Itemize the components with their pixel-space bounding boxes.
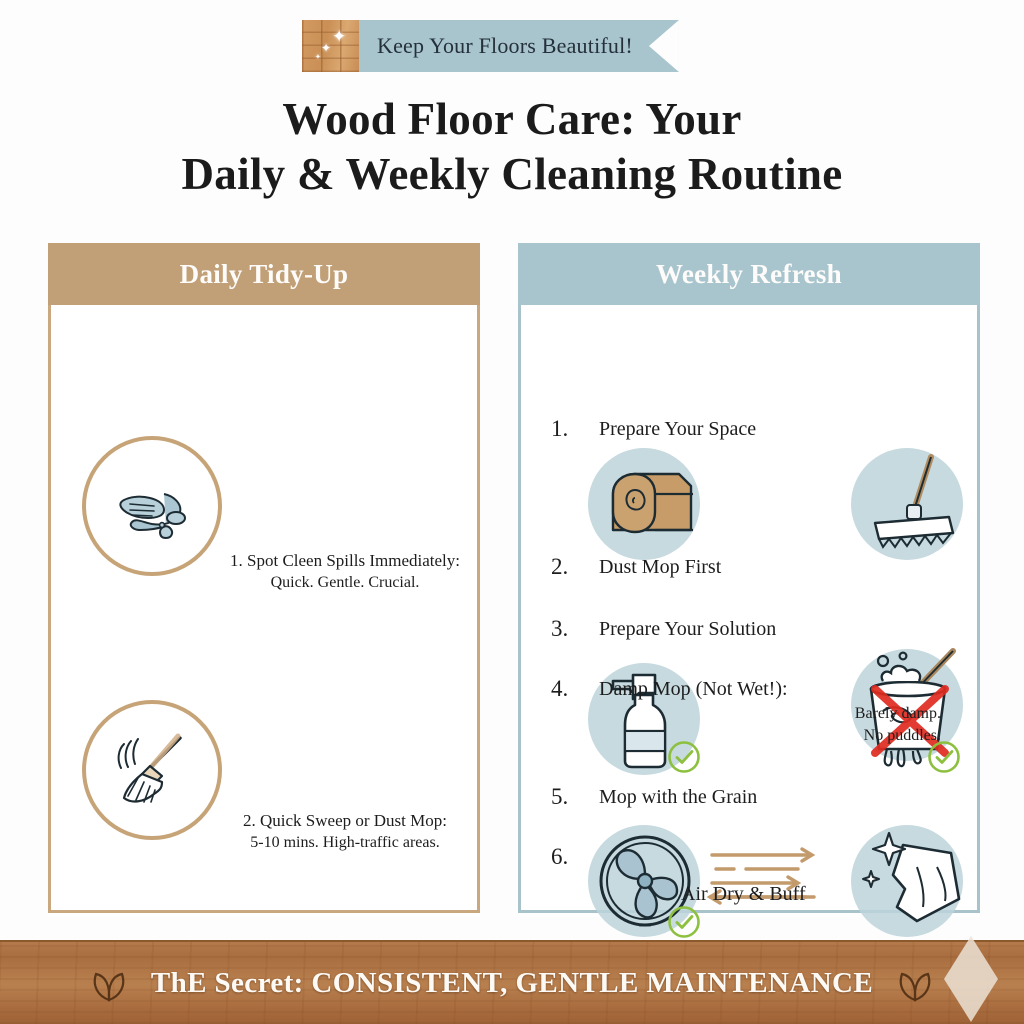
weekly-step-3-number: 3. (551, 615, 599, 643)
title-line-2: Daily & Weekly Cleaning Routine (0, 147, 1024, 202)
weekly-card-title: Weekly Refresh (656, 259, 842, 290)
ribbon-band: Keep Your Floors Beautiful! (359, 20, 679, 72)
ribbon-notch (649, 20, 679, 72)
daily-card-header: Daily Tidy-Up (48, 243, 480, 305)
damp-mop-note: Barely damp. No puddles. (751, 703, 941, 747)
check-badge-icon (667, 905, 701, 939)
daily-item-1-headline: 1. Spot Cleen Spills Immediately: (214, 550, 476, 572)
weekly-step-5-label: Mop with the Grain (599, 783, 757, 811)
diamond-sparkle-icon (944, 936, 998, 1022)
daily-item-1-subline: Quick. Gentle. Crucial. (214, 572, 476, 594)
weekly-step-3: 3. Prepare Your Solution (551, 615, 776, 643)
sparkle-icon: ✦ (321, 42, 331, 54)
broom-sweeping-icon (82, 700, 222, 840)
daily-item-2-headline: 2. Quick Sweep or Dust Mop: (214, 810, 476, 832)
weekly-step-6: 6. (551, 843, 599, 871)
footer-banner: ThE Secret: CONSISTENT, GENTLE MAINTENAN… (0, 940, 1024, 1024)
wood-sparkle-tile-icon: ✦ ✦ ✦ (302, 20, 359, 72)
weekly-step-4: 4. Damp Mop (Not Wet!): (551, 675, 788, 703)
ribbon-text: Keep Your Floors Beautiful! (377, 33, 679, 59)
weekly-step-1-number: 1. (551, 415, 599, 443)
weekly-step-4-label: Damp Mop (Not Wet!): (599, 675, 788, 703)
weekly-step-2: 2. Dust Mop First (551, 553, 721, 581)
daily-item-2-subline: 5-10 mins. High-traffic areas. (214, 832, 476, 854)
weekly-step-5-number: 5. (551, 783, 599, 811)
footer-text: ThE Secret: CONSISTENT, GENTLE MAINTENAN… (151, 967, 873, 1000)
damp-mop-note-line-2: No puddles. (751, 725, 941, 747)
damp-mop-note-line-1: Barely damp. (751, 703, 941, 725)
dust-mop-icon (857, 445, 967, 560)
weekly-step-1-label: Prepare Your Space (599, 415, 756, 443)
weekly-step-3-label: Prepare Your Solution (599, 615, 776, 643)
daily-item-1-text: 1. Spot Cleen Spills Immediately: Quick.… (214, 550, 476, 594)
weekly-step-6-number: 6. (551, 843, 599, 871)
sparkle-icon: ✦ (332, 28, 346, 45)
sparkle-icon: ✦ (315, 54, 321, 61)
check-badge-icon (667, 740, 701, 774)
daily-card-body: 1. Spot Cleen Spills Immediately: Quick.… (48, 305, 480, 913)
weekly-step-2-label: Dust Mop First (599, 553, 721, 581)
sparkle-cloth-icon (859, 827, 969, 935)
infographic-page: ✦ ✦ ✦ Keep Your Floors Beautiful! Wood F… (0, 0, 1024, 1024)
weekly-refresh-card: Weekly Refresh (518, 243, 980, 917)
leaf-icon (88, 966, 130, 1007)
rolled-rug-icon (593, 460, 703, 550)
top-ribbon: ✦ ✦ ✦ Keep Your Floors Beautiful! (302, 20, 679, 72)
weekly-card-header: Weekly Refresh (518, 243, 980, 305)
weekly-step-2-number: 2. (551, 553, 599, 581)
weekly-card-body: 1. Prepare Your Space 2. Dust Mop First … (518, 305, 980, 913)
weekly-step-1: 1. Prepare Your Space (551, 415, 756, 443)
weekly-step-4-number: 4. (551, 675, 599, 703)
weekly-step-5: 5. Mop with the Grain (551, 783, 757, 811)
daily-card-title: Daily Tidy-Up (180, 259, 349, 290)
leaf-icon (894, 966, 936, 1007)
title-line-1: Wood Floor Care: Your (282, 94, 741, 144)
page-title: Wood Floor Care: Your Daily & Weekly Cle… (0, 92, 1024, 202)
daily-tidy-up-card: Daily Tidy-Up 1. Spot Cleen Spills Immed… (48, 243, 480, 917)
daily-item-2-text: 2. Quick Sweep or Dust Mop: 5-10 mins. H… (214, 810, 476, 854)
air-dry-buff-label: Air Dry & Buff (681, 883, 806, 906)
hand-wiping-spill-icon (82, 436, 222, 576)
